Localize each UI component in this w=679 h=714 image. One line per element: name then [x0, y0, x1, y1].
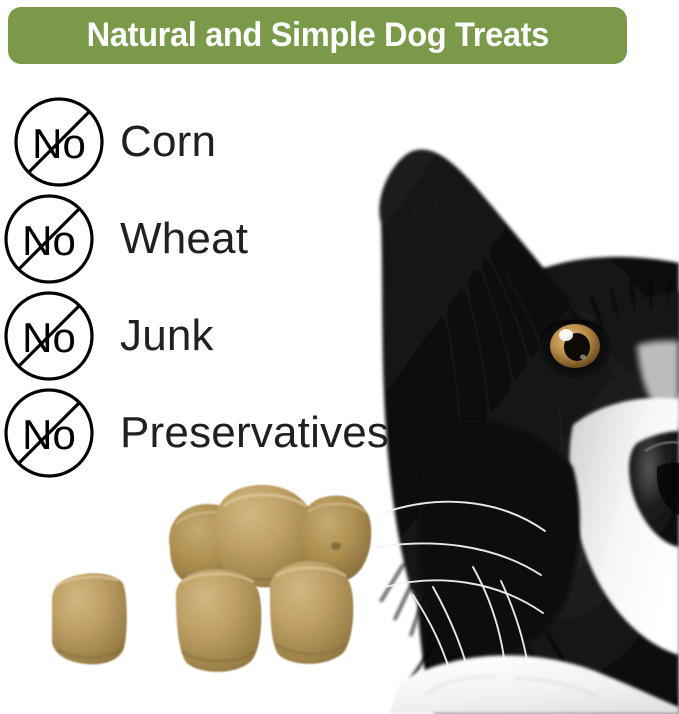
- claim-label: Wheat: [120, 193, 248, 285]
- no-badge-icon: No: [3, 193, 95, 285]
- no-badge-icon: No: [3, 387, 95, 479]
- claim-label: Preservatives: [120, 387, 389, 479]
- claim-row: No Wheat: [0, 193, 420, 290]
- no-badge-text: No: [22, 411, 76, 458]
- treat-piece: [169, 504, 247, 588]
- claims-list: No Corn No Wheat No: [0, 96, 420, 484]
- treat-piece: [52, 573, 127, 664]
- page-title: Natural and Simple Dog Treats: [86, 16, 548, 55]
- no-badge-text: No: [22, 217, 76, 264]
- claim-row: No Corn: [0, 96, 420, 193]
- dog-eye: [541, 318, 609, 376]
- claim-label: Corn: [120, 96, 216, 188]
- claim-row: No Junk: [0, 290, 420, 387]
- claim-row: No Preservatives: [0, 387, 420, 484]
- claim-label: Junk: [120, 290, 214, 382]
- no-badge-text: No: [22, 314, 76, 361]
- no-badge-text: No: [32, 120, 86, 167]
- treat-piece: [176, 569, 262, 672]
- no-badge-icon: No: [13, 96, 105, 188]
- no-badge-icon: No: [3, 290, 95, 382]
- header-banner: Natural and Simple Dog Treats: [8, 7, 627, 64]
- product-infographic: Natural and Simple Dog Treats: [0, 0, 679, 714]
